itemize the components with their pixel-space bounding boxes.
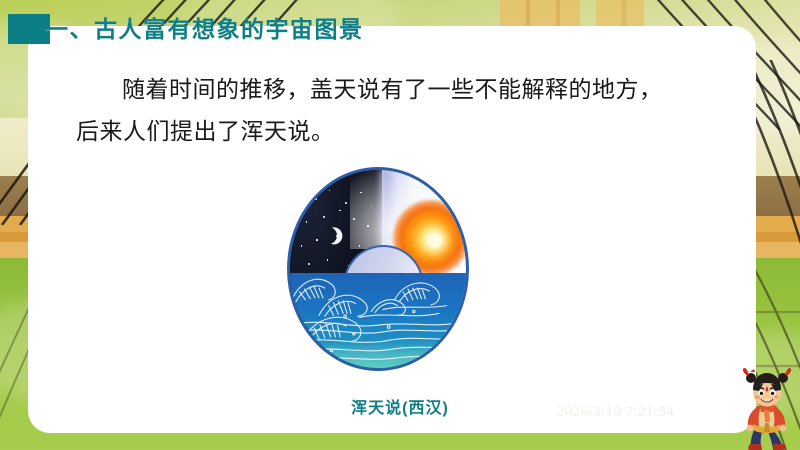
page-title: 一、古人富有想象的宇宙图景 (45, 14, 364, 44)
star-icon (316, 239, 318, 241)
celestial-sphere-illustration (287, 167, 469, 371)
stylized-waves-icon (290, 257, 466, 368)
star-icon (339, 210, 341, 212)
star-icon (359, 245, 361, 247)
star-icon (345, 202, 347, 204)
star-icon (315, 198, 317, 200)
body-paragraph: 随着时间的推移，盖天说有了一些不能解释的地方， 后来人们提出了浑天说。 (76, 68, 742, 152)
teal-square-marker-icon (8, 14, 50, 44)
body-line-1: 随着时间的推移，盖天说有了一些不能解释的地方， (122, 76, 663, 102)
celestial-sphere (287, 167, 469, 371)
star-icon (367, 225, 369, 227)
timestamp-watermark: 2026/3/10 7:21:54 (557, 404, 674, 421)
figure-caption: 浑天说(西汉) (0, 394, 800, 418)
star-icon (301, 245, 303, 247)
nezha-cartoon-character-icon (737, 366, 797, 450)
body-line-2: 后来人们提出了浑天说。 (76, 118, 335, 144)
